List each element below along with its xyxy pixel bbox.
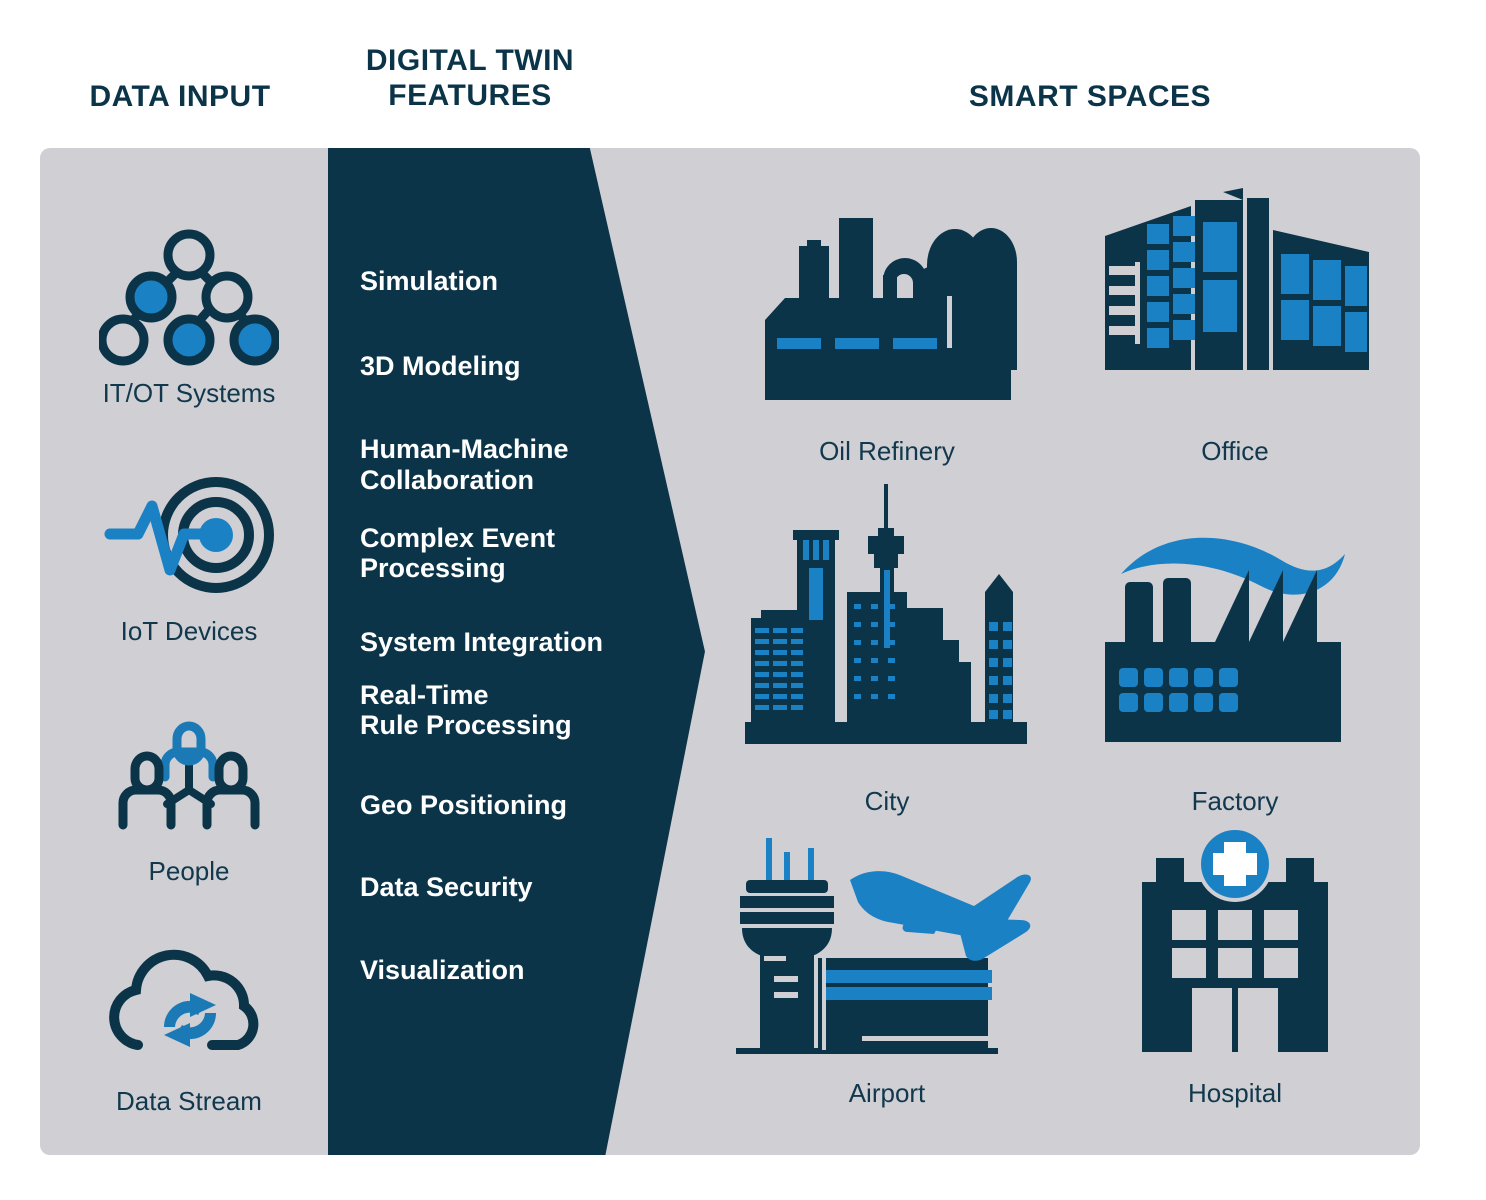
data-input-column: IT/OT Systems IoT Devices (50, 160, 328, 1145)
header-data-input: DATA INPUT (40, 80, 320, 115)
smart-space-airport: Airport (722, 830, 1052, 1109)
data-input-label: People (50, 856, 328, 887)
data-input-label: IT/OT Systems (50, 378, 328, 409)
cloud-sync-icon (50, 930, 328, 1080)
feature-item-human-machine-collaboration: Human-Machine Collaboration (360, 434, 690, 494)
header-smart-spaces: SMART SPACES (760, 80, 1420, 115)
feature-item-real-time-rule-processing: Real-Time Rule Processing (360, 680, 690, 740)
oil-refinery-icon (722, 168, 1052, 428)
data-input-item-people: People (50, 700, 328, 887)
smart-space-label: Oil Refinery (722, 436, 1052, 467)
people-group-icon (50, 700, 328, 850)
feature-item-geo-positioning: Geo Positioning (360, 790, 690, 820)
smart-space-label: Factory (1070, 786, 1400, 817)
smart-space-city: City (722, 478, 1052, 817)
city-skyline-icon (722, 478, 1052, 778)
smart-space-label: Hospital (1070, 1078, 1400, 1109)
smart-space-label: Airport (722, 1078, 1052, 1109)
factory-icon (1070, 478, 1400, 778)
smart-space-label: City (722, 786, 1052, 817)
feature-item-system-integration: System Integration (360, 627, 690, 657)
header-digital-twin-features: DIGITAL TWIN FEATURES (330, 44, 610, 113)
airport-icon (722, 830, 1052, 1070)
data-input-item-data-stream: Data Stream (50, 930, 328, 1117)
smart-space-factory: Factory (1070, 478, 1400, 817)
feature-item-data-security: Data Security (360, 872, 690, 902)
smart-space-oil-refinery: Oil Refinery (722, 168, 1052, 467)
data-input-label: Data Stream (50, 1086, 328, 1117)
feature-item-3d-modeling: 3D Modeling (360, 351, 690, 381)
feature-item-visualization: Visualization (360, 955, 690, 985)
hospital-icon (1070, 830, 1400, 1070)
data-input-label: IoT Devices (50, 616, 328, 647)
smart-space-hospital: Hospital (1070, 830, 1400, 1109)
feature-item-complex-event-processing: Complex Event Processing (360, 523, 690, 583)
smart-spaces-grid: Oil Refinery (712, 160, 1420, 1145)
data-input-item-it-ot-systems: IT/OT Systems (50, 222, 328, 409)
smart-space-office: Office (1070, 168, 1400, 467)
feature-list: Simulation 3D Modeling Human-Machine Col… (360, 148, 690, 1155)
network-tree-icon (50, 222, 328, 372)
data-input-item-iot-devices: IoT Devices (50, 460, 328, 647)
smart-space-label: Office (1070, 436, 1400, 467)
office-building-icon (1070, 168, 1400, 428)
infographic-page: DATA INPUT DIGITAL TWIN FEATURES SMART S… (0, 0, 1486, 1200)
feature-item-simulation: Simulation (360, 266, 690, 296)
pulse-target-icon (50, 460, 328, 610)
